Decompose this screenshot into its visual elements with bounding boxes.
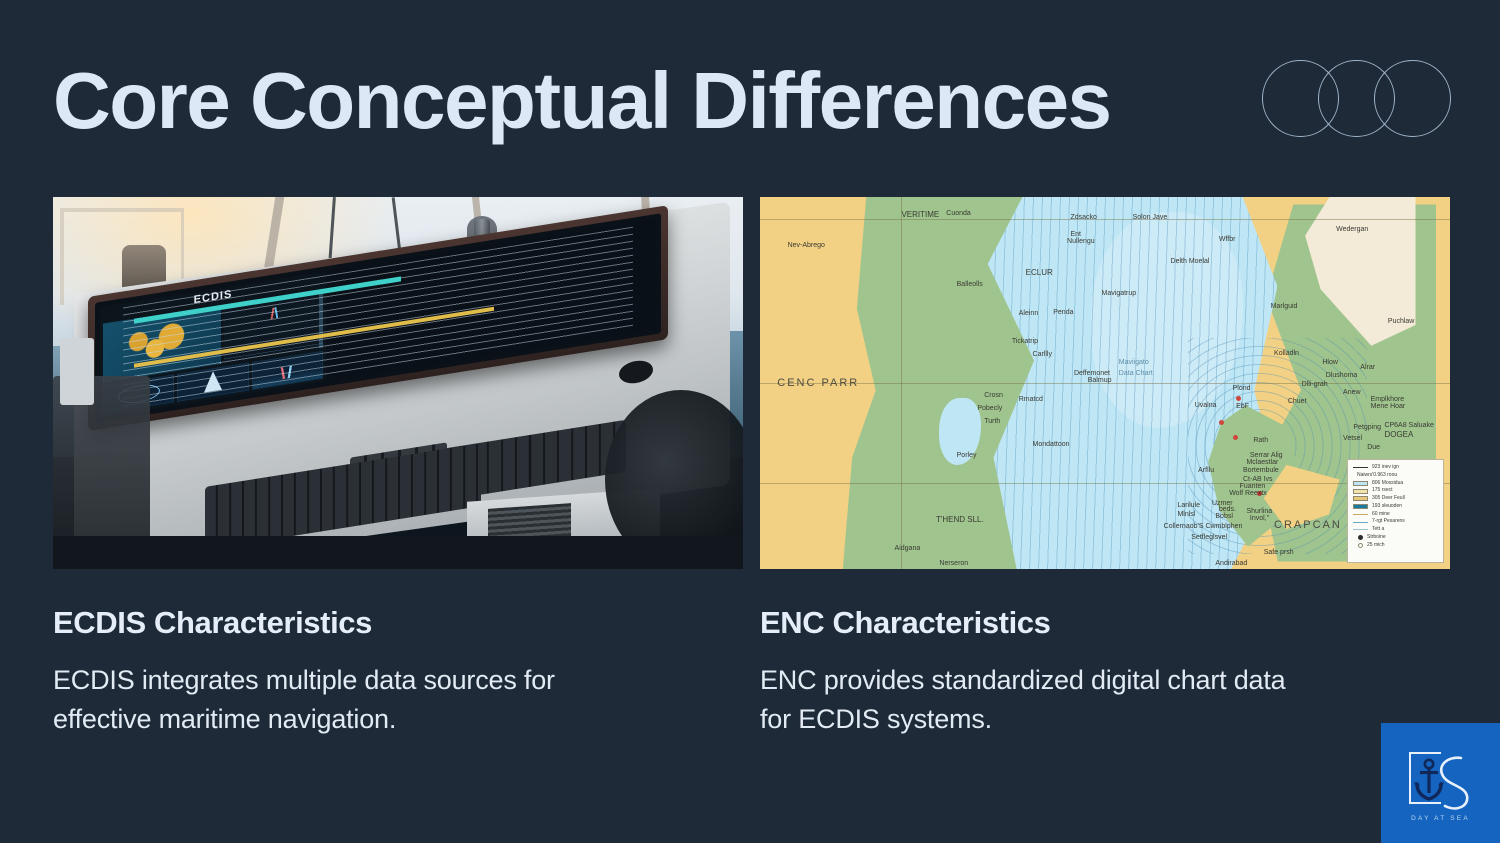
chart-place-label: EbF: [1236, 403, 1249, 410]
chart-place-label: Solon Jave: [1133, 214, 1168, 221]
ecdis-console-image: ECDIS: [53, 197, 743, 569]
chart-legend-row: 25 mich: [1353, 542, 1438, 550]
chart-place-label: Arfllu: [1198, 467, 1214, 474]
legend-label: 60 mine: [1372, 511, 1390, 519]
column-enc: Maviigato Data Chart CENC PARRCRAPCANT'H…: [760, 197, 1450, 797]
legend-line-icon: [1353, 522, 1368, 523]
chart-place-label: Mondattoon: [1033, 441, 1070, 448]
chart-marker-3: [1233, 435, 1238, 440]
chart-legend-row: 305 Deer Feull: [1353, 495, 1438, 503]
chart-place-label: Delth Moelal: [1171, 258, 1210, 265]
chart-place-label: Kolladln: [1274, 350, 1299, 357]
chart-place-label: Nev-Abrego: [788, 242, 825, 249]
chart-legend-row: 60 mine: [1353, 511, 1438, 519]
legend-label: 305 Deer Feull: [1372, 495, 1405, 503]
enc-heading: ENC Characteristics: [760, 606, 1450, 640]
chart-place-label: Pobecly: [977, 405, 1002, 412]
chart-place-label: Hlow: [1322, 359, 1338, 366]
chart-place-label: Zdsacko: [1071, 214, 1097, 221]
content-columns: ECDIS: [53, 197, 1447, 797]
chart-place-label: Petgping: [1353, 424, 1381, 431]
chart-center-label-2: Data Chart: [1119, 370, 1153, 377]
chart-place-label: Uvalna: [1195, 402, 1217, 409]
legend-label: 193 sleuoden: [1372, 503, 1402, 511]
logo-s-icon: [1441, 758, 1467, 809]
chart-place-label: Lanlule: [1177, 502, 1200, 509]
legend-label: 7-rgt Pesarens: [1372, 518, 1405, 526]
chart-place-label: Wolf Reextx: [1229, 490, 1267, 497]
chart-legend-row: Tett a: [1353, 526, 1438, 534]
logo-mark: DAY AT SEA: [1403, 746, 1479, 820]
legend-swatch-icon: [1353, 489, 1368, 494]
chart-place-label: Nullengu: [1067, 238, 1095, 245]
chart-place-label: Wffbr: [1219, 236, 1236, 243]
legend-label: 923 inev ign: [1372, 464, 1399, 472]
chart-place-label: CENC PARR: [777, 377, 859, 389]
ecdis-caption: ECDIS Characteristics ECDIS integrates m…: [53, 569, 743, 739]
chart-place-label: Balleolls: [957, 281, 983, 288]
chart-place-label: Dlli-grah: [1302, 381, 1328, 388]
chart-place-label: Balmup: [1088, 377, 1112, 384]
chart-place-label: T'HEND SLL.: [936, 515, 984, 524]
chart-legend-row: Strboine: [1353, 534, 1438, 542]
chart-place-label: Tickatrip: [1012, 338, 1038, 345]
legend-swatch-icon: [1353, 496, 1368, 501]
title-row: Core Conceptual Differences: [53, 46, 1453, 156]
legend-line-icon: [1353, 529, 1368, 530]
chart-place-label: Mlnlsl: [1177, 511, 1195, 518]
chart-place-label: Carllly: [1033, 351, 1052, 358]
chart-place-label: Nerseron: [939, 560, 968, 567]
chart-legend-row: 806 Mossidua: [1353, 480, 1438, 488]
column-ecdis: ECDIS: [53, 197, 743, 797]
legend-circle-icon: [1358, 543, 1363, 548]
chart-place-label: Deffemonet: [1074, 370, 1110, 377]
chart-legend-row: 193 sleuoden: [1353, 503, 1438, 511]
chart-gridline-v1: [901, 197, 902, 569]
chart-place-label: Mclaestlar: [1246, 459, 1278, 466]
chart-legend-row: 923 inev ign: [1353, 464, 1438, 472]
chart-place-label: ECLUR: [1026, 268, 1053, 277]
legend-swatch-icon: [1353, 504, 1368, 509]
chart-place-label: Alrar: [1360, 364, 1375, 371]
chart-place-label: Rath: [1253, 437, 1268, 444]
chart-legend-row: 7-rgt Pesarens: [1353, 518, 1438, 526]
chart-place-label: Penda: [1053, 309, 1073, 316]
legend-dot-icon: [1358, 535, 1363, 540]
chart-place-label: CP6A8 Saluake: [1384, 422, 1433, 429]
chart-place-label: Puchlaw: [1388, 318, 1414, 325]
chart-place-label: Due: [1367, 444, 1380, 451]
legend-line-icon: [1353, 514, 1368, 515]
chart-legend-row: Naiwrs'0.963 roou: [1353, 472, 1438, 480]
chart-place-label: Chuet: [1288, 398, 1307, 405]
ecdis-body: ECDIS integrates multiple data sources f…: [53, 661, 613, 739]
chart-place-label: Emplkhore: [1371, 396, 1404, 403]
chart-place-label: Crosn: [984, 392, 1003, 399]
left-handle: [60, 338, 95, 405]
chart-gridline-h1: [760, 219, 1450, 220]
legend-label: 25 mich: [1367, 542, 1385, 550]
nautical-chart: Maviigato Data Chart CENC PARRCRAPCANT'H…: [760, 197, 1450, 569]
chart-place-label: Safe prsh: [1264, 549, 1294, 556]
chart-place-label: DOGEA: [1384, 430, 1413, 439]
legend-label: Naiwrs'0.963 roou: [1357, 472, 1397, 480]
chart-place-label: Serrar Alig: [1250, 452, 1283, 459]
chart-place-label: Turth: [984, 418, 1000, 425]
chart-place-label: Mavigatrup: [1102, 290, 1137, 297]
chart-legend-rows: 923 inev ignNaiwrs'0.963 roou806 Mossidu…: [1353, 464, 1438, 549]
logo-wordmark: DAY AT SEA: [1403, 815, 1479, 822]
page-title: Core Conceptual Differences: [53, 61, 1111, 141]
chart-place-label: Aidgana: [895, 545, 921, 552]
chart-place-label: Vetsel: [1343, 435, 1362, 442]
day-at-sea-logo[interactable]: DAY AT SEA: [1381, 723, 1500, 843]
chart-place-label: Ct-AB Ivs: [1243, 476, 1273, 483]
chart-place-label: Dlushoma: [1326, 372, 1358, 379]
ecdis-aux-screen: [502, 220, 655, 354]
chart-place-label: Marlguid: [1271, 303, 1298, 310]
chart-place-label: Aleinn: [1019, 310, 1038, 317]
bridge-photo: ECDIS: [53, 197, 743, 569]
enc-caption: ENC Characteristics ENC provides standar…: [760, 569, 1450, 739]
enc-chart-image: Maviigato Data Chart CENC PARRCRAPCANT'H…: [760, 197, 1450, 569]
chart-place-label: Bortembule: [1243, 467, 1279, 474]
chart-place-label: CRAPCAN: [1274, 519, 1342, 531]
chart-place-label: Cuonda: [946, 210, 971, 217]
chart-place-label: Andirabad: [1215, 560, 1247, 567]
logo-letterforms: [1403, 746, 1479, 820]
anchor-icon: [1414, 760, 1444, 799]
chart-place-label: Rmatcd: [1019, 396, 1043, 403]
chart-center-label-1: Maviigato: [1119, 359, 1149, 366]
legend-label: Strboine: [1367, 534, 1386, 542]
floor-shadow: [53, 536, 743, 569]
legend-label: 806 Mossidua: [1372, 480, 1403, 488]
chart-place-label: Wedergan: [1336, 226, 1368, 233]
chart-place-label: VERITIME: [901, 210, 939, 219]
legend-label: 175 rsect: [1372, 487, 1393, 495]
legend-line-icon: [1353, 467, 1368, 468]
chart-place-label: Shurlina: [1246, 508, 1272, 515]
chart-place-label: Collernaob'S Cwmblphen: [1164, 523, 1243, 530]
chart-legend-row: 175 rsect: [1353, 487, 1438, 495]
chart-place-label: beds.: [1219, 506, 1236, 513]
chart-place-label: Plond: [1233, 385, 1251, 392]
legend-label: Tett a: [1372, 526, 1384, 534]
ecdis-heading: ECDIS Characteristics: [53, 606, 743, 640]
chart-place-label: Mene Hoar: [1371, 403, 1406, 410]
legend-swatch-icon: [1353, 481, 1368, 486]
chart-place-label: Setfleglsvel: [1191, 534, 1227, 541]
chart-place-label: Anew: [1343, 389, 1361, 396]
chart-place-label: Porley: [957, 452, 977, 459]
chart-place-label: Invol,": [1250, 515, 1269, 522]
chart-legend: 923 inev ignNaiwrs'0.963 roou806 Mossidu…: [1347, 459, 1444, 563]
chart-place-label: Bobsl: [1215, 513, 1233, 520]
enc-body: ENC provides standardized digital chart …: [760, 661, 1320, 739]
